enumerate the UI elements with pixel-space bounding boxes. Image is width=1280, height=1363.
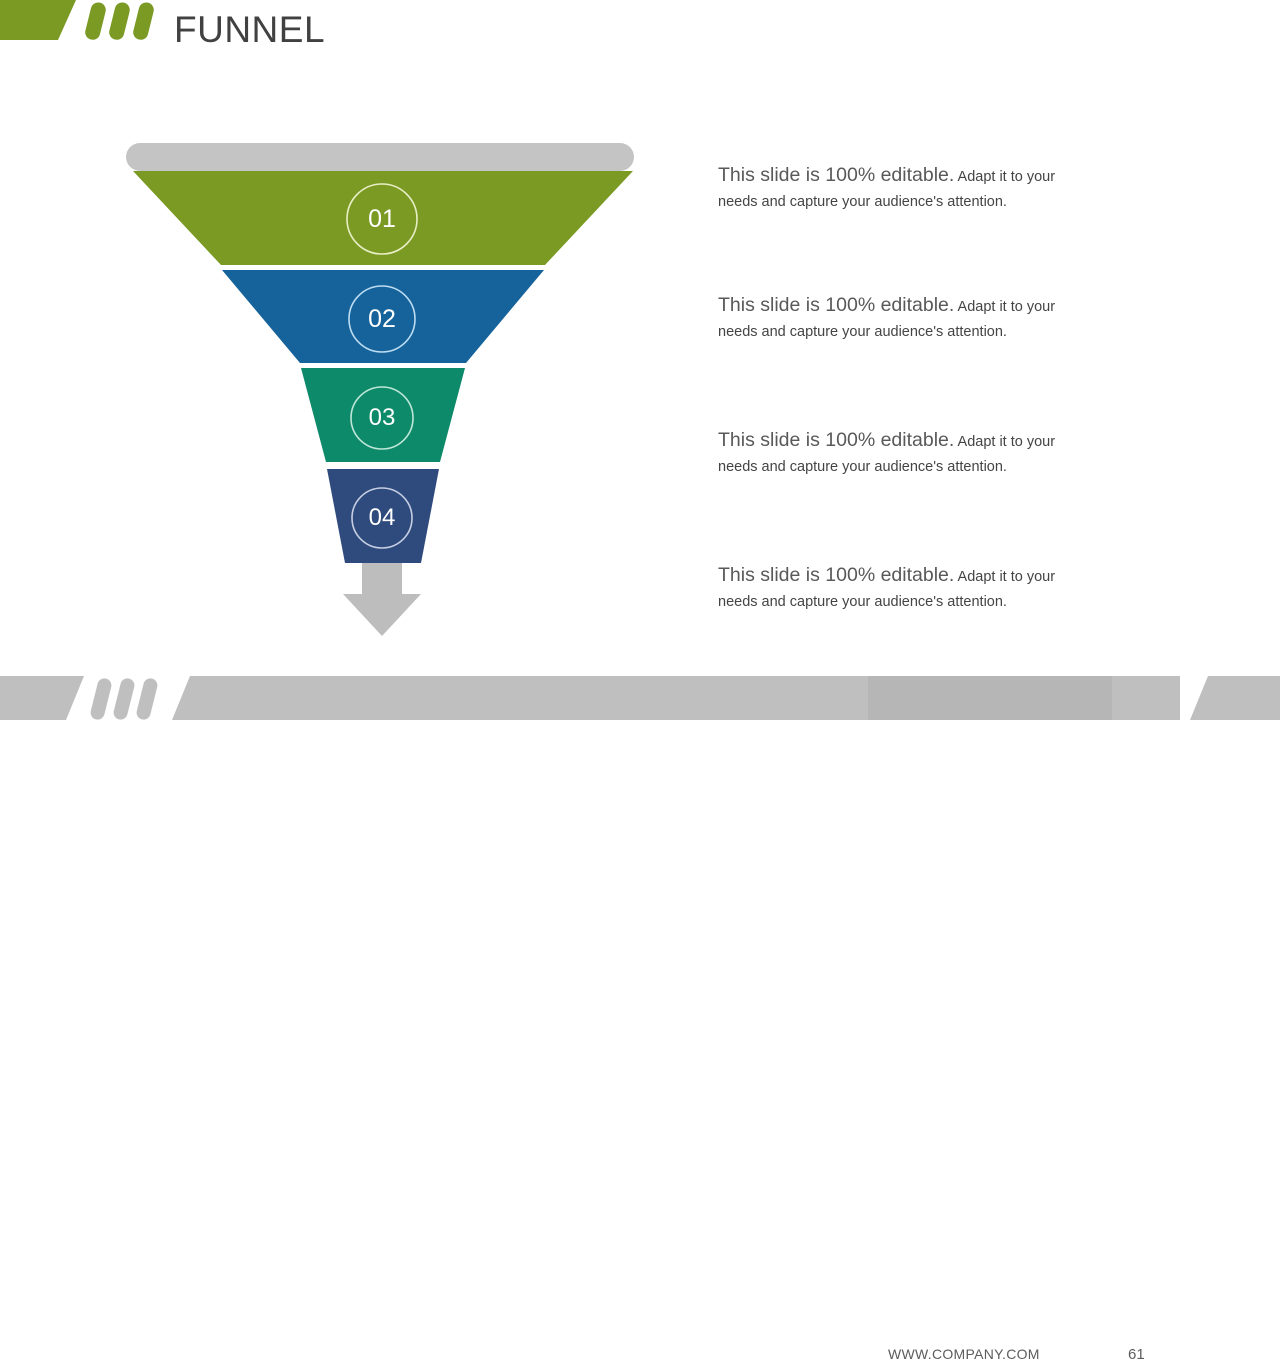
- funnel-number-03: 03: [351, 387, 413, 449]
- content-lead-1: This slide is 100% editable.: [718, 164, 954, 186]
- content-line-3: This slide is 100% editable. Adapt it to…: [718, 428, 1164, 455]
- content-line-1: This slide is 100% editable. Adapt it to…: [718, 163, 1164, 190]
- content-line-2b: needs and capture your audience's attent…: [718, 320, 1164, 345]
- content-rest-1: Adapt it to your: [954, 169, 1055, 185]
- footer-bar-2: [112, 677, 136, 720]
- footer-bar-3: [135, 677, 159, 720]
- content-lead-4: This slide is 100% editable.: [718, 564, 954, 586]
- content-rest-2: Adapt it to your: [954, 299, 1055, 315]
- footer-page-number: 61: [1128, 1346, 1145, 1363]
- content-block-2: This slide is 100% editable. Adapt it to…: [718, 293, 1164, 345]
- content-rest-3: Adapt it to your: [954, 434, 1055, 450]
- content-block-1: This slide is 100% editable. Adapt it to…: [718, 163, 1164, 215]
- content-line-1b: needs and capture your audience's attent…: [718, 190, 1164, 215]
- content-lead-2: This slide is 100% editable.: [718, 294, 954, 316]
- funnel-number-01: 01: [347, 184, 417, 254]
- funnel-diagram: 01 02 03 04: [0, 0, 700, 700]
- funnel-number-04: 04: [352, 488, 412, 548]
- content-block-3: This slide is 100% editable. Adapt it to…: [718, 428, 1164, 480]
- content-block-4: This slide is 100% editable. Adapt it to…: [718, 563, 1164, 615]
- content-lead-3: This slide is 100% editable.: [718, 429, 954, 451]
- footer-graphic: [0, 662, 1280, 720]
- funnel-shapes: [0, 0, 700, 700]
- funnel-output-arrow: [343, 563, 421, 636]
- content-rest-4: Adapt it to your: [954, 569, 1055, 585]
- footer-url[interactable]: WWW.COMPANY.COM: [888, 1346, 1040, 1362]
- footer-dark-band: [868, 676, 1112, 720]
- footer-block-shape: [0, 676, 84, 720]
- slide-canvas: FUNNEL 01 02 03 04: [0, 0, 1280, 720]
- slide-footer: WWW.COMPANY.COM 61: [0, 662, 1280, 720]
- footer-tail-shape: [1190, 676, 1280, 720]
- funnel-number-02: 02: [349, 286, 415, 352]
- footer-bar-1: [89, 677, 113, 720]
- content-line-3b: needs and capture your audience's attent…: [718, 455, 1164, 480]
- content-line-4: This slide is 100% editable. Adapt it to…: [718, 563, 1164, 590]
- content-line-4b: needs and capture your audience's attent…: [718, 590, 1164, 615]
- content-line-2: This slide is 100% editable. Adapt it to…: [718, 293, 1164, 320]
